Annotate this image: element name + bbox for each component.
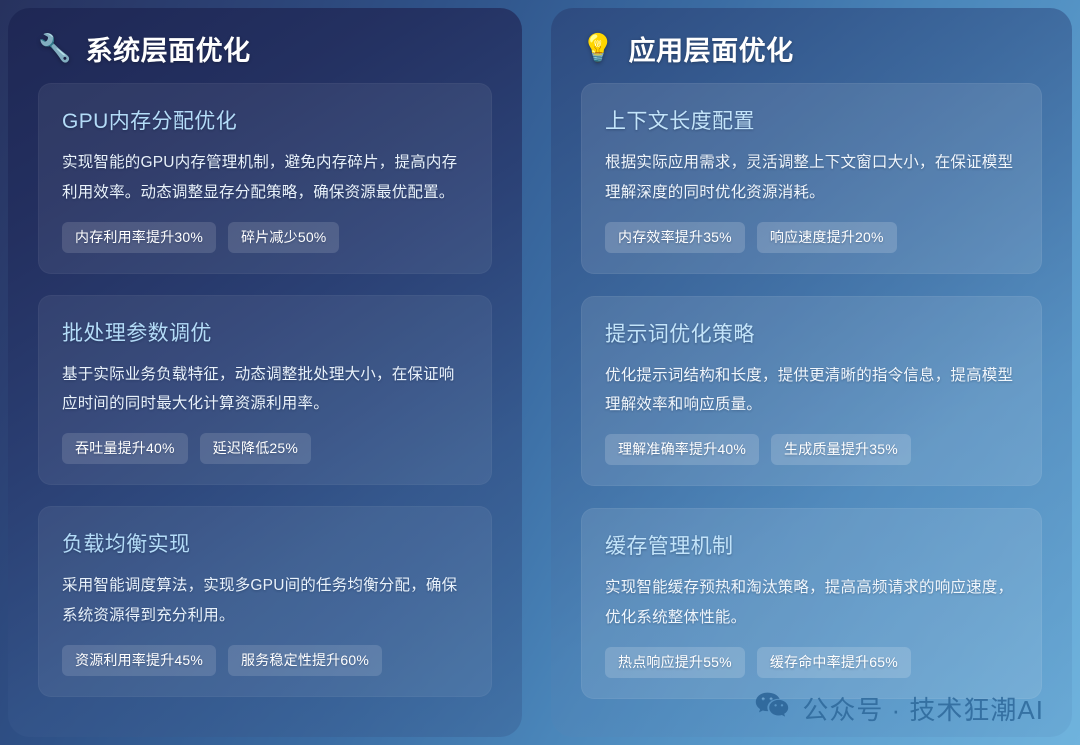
metric-tag: 服务稳定性提升60% [228,645,382,676]
optimization-card[interactable]: 提示词优化策略 优化提示词结构和长度，提供更清晰的指令信息，提高模型理解效率和响… [581,296,1042,487]
metric-tag: 内存效率提升35% [605,222,745,253]
panel-application-level: 💡 应用层面优化 上下文长度配置 根据实际应用需求，灵活调整上下文窗口大小，在保… [551,8,1072,737]
card-list: GPU内存分配优化 实现智能的GPU内存管理机制，避免内存碎片，提高内存利用效率… [8,83,522,697]
metric-tag: 生成质量提升35% [771,434,911,465]
wechat-icon [755,692,789,725]
card-description: 实现智能缓存预热和淘汰策略，提高高频请求的响应速度，优化系统整体性能。 [605,573,1018,633]
panel-system-level: 🔧 系统层面优化 GPU内存分配优化 实现智能的GPU内存管理机制，避免内存碎片… [8,8,522,737]
tag-row: 吞吐量提升40% 延迟降低25% [62,433,468,464]
panel-title: 系统层面优化 [86,29,251,68]
card-description: 基于实际业务负载特征，动态调整批处理大小，在保证响应时间的同时最大化计算资源利用… [62,360,468,420]
lightbulb-icon: 💡 [581,35,615,62]
card-title: 批处理参数调优 [62,317,468,347]
card-title: GPU内存分配优化 [62,105,468,135]
card-title: 上下文长度配置 [605,105,1018,135]
metric-tag: 内存利用率提升30% [62,222,216,253]
metric-tag: 吞吐量提升40% [62,433,188,464]
metric-tag: 理解准确率提升40% [605,434,759,465]
watermark-text: 公众号 · 技术狂潮AI [802,690,1044,727]
metric-tag: 资源利用率提升45% [62,645,216,676]
card-description: 优化提示词结构和长度，提供更清晰的指令信息，提高模型理解效率和响应质量。 [605,361,1018,421]
panel-title: 应用层面优化 [629,29,794,68]
card-description: 采用智能调度算法，实现多GPU间的任务均衡分配，确保系统资源得到充分利用。 [62,571,468,631]
tag-row: 热点响应提升55% 缓存命中率提升65% [605,647,1018,678]
optimization-card[interactable]: GPU内存分配优化 实现智能的GPU内存管理机制，避免内存碎片，提高内存利用效率… [38,83,492,274]
metric-tag: 响应速度提升20% [757,222,897,253]
wrench-icon: 🔧 [38,35,72,62]
tag-row: 内存利用率提升30% 碎片减少50% [62,222,468,253]
panel-header: 🔧 系统层面优化 [8,8,522,62]
tag-row: 理解准确率提升40% 生成质量提升35% [605,434,1018,465]
optimization-card[interactable]: 负载均衡实现 采用智能调度算法，实现多GPU间的任务均衡分配，确保系统资源得到充… [38,506,492,697]
card-list: 上下文长度配置 根据实际应用需求，灵活调整上下文窗口大小，在保证模型理解深度的同… [551,83,1072,699]
card-title: 缓存管理机制 [605,530,1018,560]
metric-tag: 延迟降低25% [200,433,311,464]
metric-tag: 缓存命中率提升65% [757,647,911,678]
optimization-card[interactable]: 上下文长度配置 根据实际应用需求，灵活调整上下文窗口大小，在保证模型理解深度的同… [581,83,1042,274]
metric-tag: 碎片减少50% [228,222,339,253]
tag-row: 内存效率提升35% 响应速度提升20% [605,222,1018,253]
optimization-card[interactable]: 批处理参数调优 基于实际业务负载特征，动态调整批处理大小，在保证响应时间的同时最… [38,295,492,486]
card-title: 负载均衡实现 [62,528,468,558]
card-title: 提示词优化策略 [605,318,1018,348]
optimization-overview: 🔧 系统层面优化 GPU内存分配优化 实现智能的GPU内存管理机制，避免内存碎片… [0,0,1080,745]
card-description: 根据实际应用需求，灵活调整上下文窗口大小，在保证模型理解深度的同时优化资源消耗。 [605,148,1018,208]
card-description: 实现智能的GPU内存管理机制，避免内存碎片，提高内存利用效率。动态调整显存分配策… [62,148,468,208]
optimization-card[interactable]: 缓存管理机制 实现智能缓存预热和淘汰策略，提高高频请求的响应速度，优化系统整体性… [581,508,1042,699]
metric-tag: 热点响应提升55% [605,647,745,678]
tag-row: 资源利用率提升45% 服务稳定性提升60% [62,645,468,676]
watermark: 公众号 · 技术狂潮AI [755,690,1044,727]
panel-header: 💡 应用层面优化 [551,8,1072,62]
